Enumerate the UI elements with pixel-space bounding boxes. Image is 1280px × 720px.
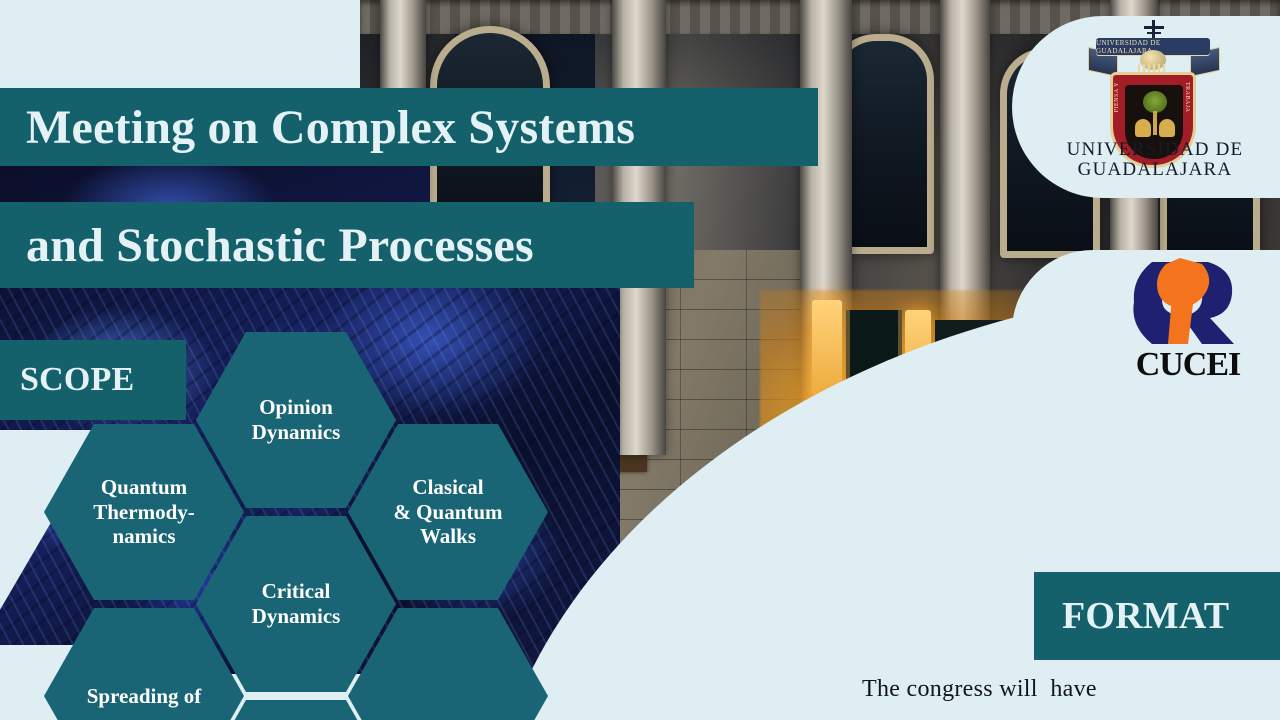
scope-topic-label: Spreading of [87,684,202,709]
scope-topic-line: Quantum [93,475,195,500]
format-section-label: FORMAT [1034,572,1280,660]
crest-tree-icon [1143,91,1167,113]
scope-topic-line: Spreading of [87,684,202,709]
scope-section-label: SCOPE [0,340,186,420]
scope-topic-line: Dynamics [252,604,341,629]
crest-motto-left: PIENSA Y [1114,82,1120,112]
cucei-mark-icon [1122,256,1242,350]
scope-topic-line: Dynamics [252,420,341,445]
crest-motto-right: TRABAJA [1184,82,1190,113]
crest-cross-icon [1144,26,1164,29]
scope-topic-line: Walks [393,524,502,549]
cucei-logo: CUCEI [1108,256,1268,388]
scope-topic-line: Thermody- [93,500,195,525]
universidad-wordmark: UNIVERSIDAD DE GUADALAJARA [1060,140,1250,180]
cucei-wordmark: CUCEI [1108,346,1268,384]
scope-topic-label: OpinionDynamics [252,395,341,445]
universidad-de-guadalajara-logo: UNIVERSIDAD DE GUADALAJARA PIENSA Y TRAB… [1060,20,1250,190]
universidad-wordmark-line-2: GUADALAJARA [1060,160,1250,180]
scope-topic-label: QuantumThermody-namics [93,475,195,549]
scope-topic-label: CriticalDynamics [252,579,341,629]
crest-cross-icon [1147,32,1161,34]
conference-poster: Meeting on Complex Systems and Stochasti… [0,0,1280,720]
universidad-wordmark-line-1: UNIVERSIDAD DE [1060,140,1250,160]
page-title-line-2: and Stochastic Processes [0,202,694,288]
scope-topic-label: Clasical& QuantumWalks [393,475,502,549]
crest-cross-icon [1152,20,1155,40]
crest-lion-icon [1159,119,1175,137]
scope-topic-line: Clasical [393,475,502,500]
scope-topic-line: namics [93,524,195,549]
format-description-text: The congress will have [862,676,1280,703]
page-title-line-1: Meeting on Complex Systems [0,88,818,166]
crest-trunk [1153,111,1157,135]
scope-topic-line: Critical [252,579,341,604]
scope-topic-line: Opinion [252,395,341,420]
crest-lion-icon [1135,119,1151,137]
scope-topic-line: & Quantum [393,500,502,525]
